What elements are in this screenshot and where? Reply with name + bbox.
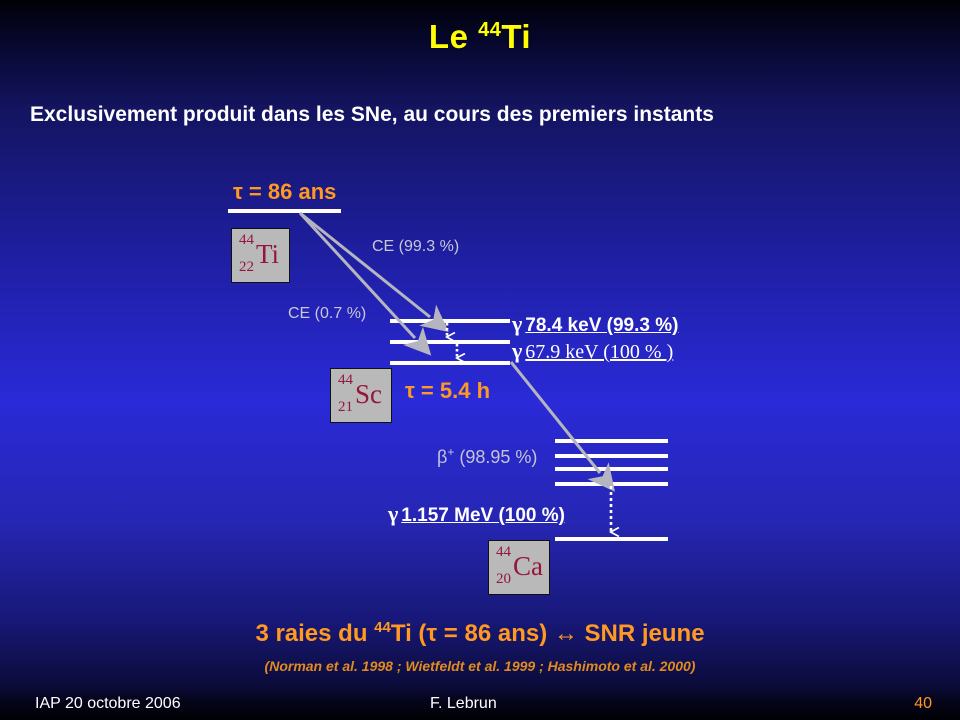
ti-lifetime-label: τ = 86 ans xyxy=(233,181,336,203)
atomic-number: 22 xyxy=(239,260,254,275)
element-symbol: Sc xyxy=(355,381,382,408)
atomic-number: 21 xyxy=(338,400,353,415)
title-prefix: Le xyxy=(429,18,478,55)
conclusion-line: 3 raies du 44Ti (τ = 86 ans) ↔ SNR jeune xyxy=(0,620,960,648)
beta-branching: (98.95 %) xyxy=(454,447,537,467)
element-symbol: Ca xyxy=(513,553,543,580)
mass-number: 44 xyxy=(239,233,254,248)
nuclide-box-sc-44: 44 21 Sc xyxy=(330,368,392,423)
ec-minor-label: CE (0.7 %) xyxy=(288,306,366,322)
mass-number: 44 xyxy=(338,373,353,388)
title-element: Ti xyxy=(501,18,531,55)
conclusion-part1: 3 raies du xyxy=(255,620,374,647)
page-title: Le 44Ti xyxy=(0,18,960,56)
title-mass-number: 44 xyxy=(478,19,501,41)
beta-plus-label: β+ (98.95 %) xyxy=(437,448,537,466)
gamma-symbol-icon: γ xyxy=(512,311,525,336)
gamma-symbol-icon: γ xyxy=(388,501,401,526)
footer-author: F. Lebrun xyxy=(430,695,497,713)
slide-footer: IAP 20 octobre 2006 F. Lebrun 40 xyxy=(0,690,960,720)
slide-subtitle: Exclusivement produit dans les SNe, au c… xyxy=(30,103,930,127)
mass-number: 44 xyxy=(496,545,511,560)
conclusion-mass-number: 44 xyxy=(374,619,391,636)
citation-line: (Norman et al. 1998 ; Wietfeldt et al. 1… xyxy=(0,658,960,674)
nuclide-box-ti-44: 44 22 Ti xyxy=(231,228,290,283)
conclusion-part2: Ti (τ = 86 ans) ↔ SNR jeune xyxy=(391,620,705,647)
slide-canvas: Le 44Ti Exclusivement produit dans les S… xyxy=(0,0,960,720)
beta-symbol: β xyxy=(437,447,447,467)
atomic-number: 20 xyxy=(496,572,511,587)
gamma-1157-text: 1.157 MeV (100 %) xyxy=(401,505,565,526)
gamma-67-text: 67.9 keV (100 % ) xyxy=(525,341,673,363)
gamma-symbol-icon: γ xyxy=(512,338,525,363)
sc-lifetime-label: τ = 5.4 h xyxy=(405,380,490,402)
gamma-78-text: 78.4 keV (99.3 %) xyxy=(525,315,678,336)
gamma-78-label: γ78.4 keV (99.3 %) xyxy=(512,313,678,335)
gamma-67-label: γ67.9 keV (100 % ) xyxy=(512,340,673,362)
gamma-1157-label: γ1.157 MeV (100 %) xyxy=(388,503,565,525)
ec-major-label: CE (99.3 %) xyxy=(372,239,459,255)
transition-ec-99-arrow xyxy=(300,213,430,317)
footer-event: IAP 20 octobre 2006 xyxy=(35,695,181,713)
nuclide-box-ca-44: 44 20 Ca xyxy=(488,540,550,595)
element-symbol: Ti xyxy=(256,241,279,268)
footer-page-number: 40 xyxy=(914,695,932,713)
